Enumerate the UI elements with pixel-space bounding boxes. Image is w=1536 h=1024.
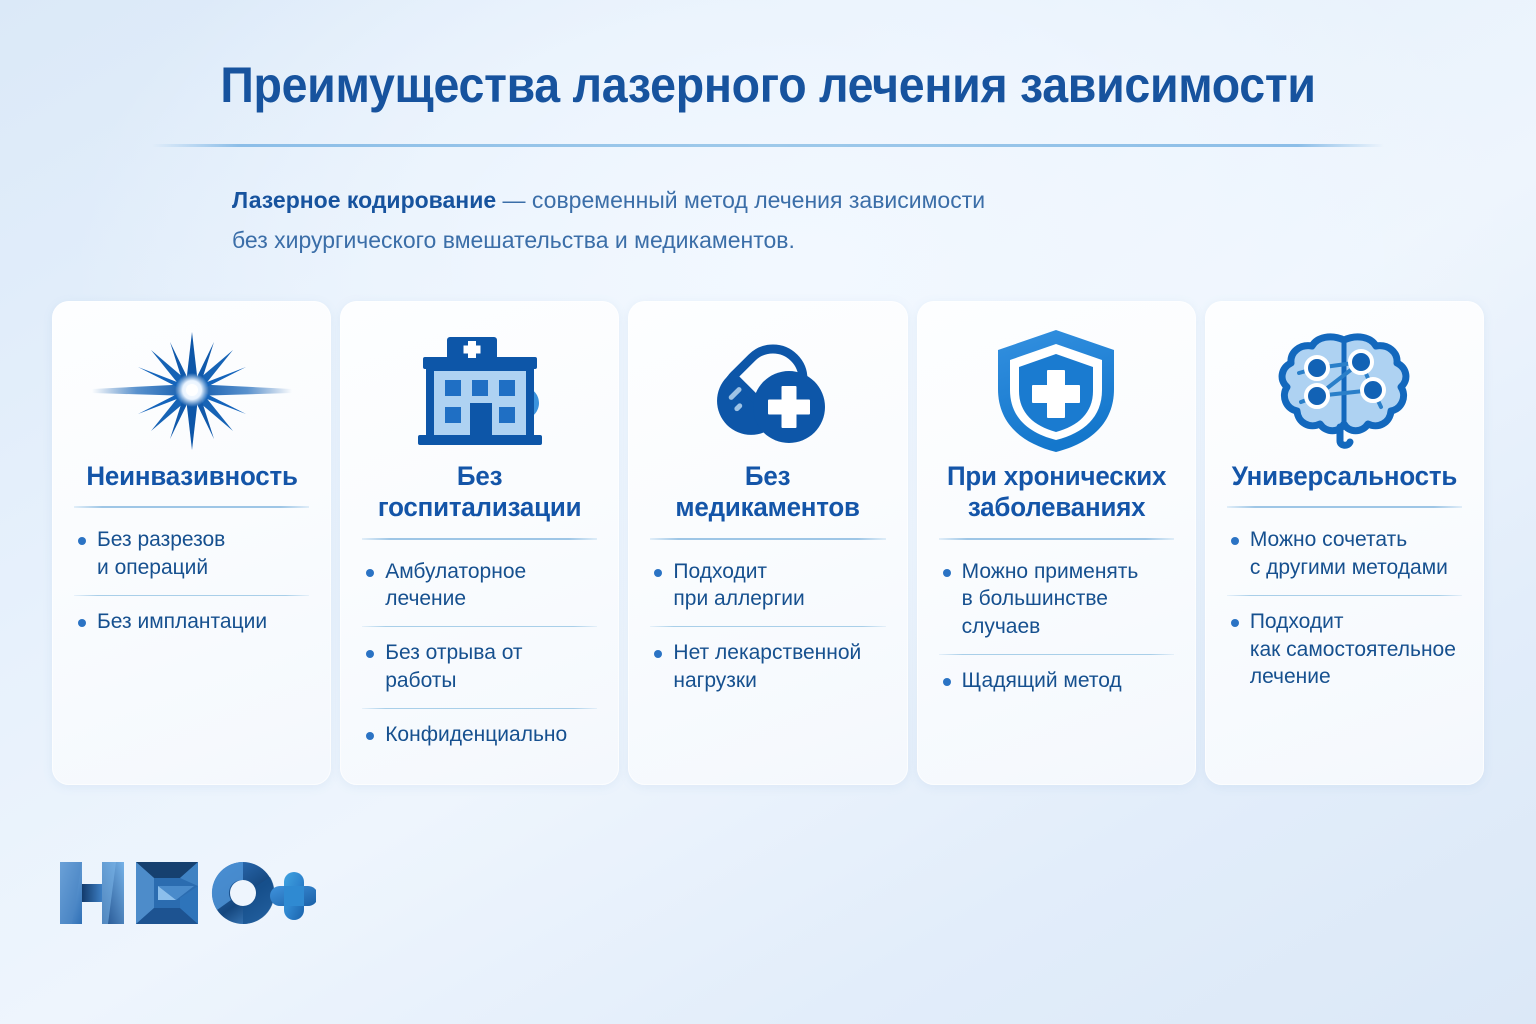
list-item: Можно сочетать с другими методами [1227,524,1462,583]
bullet-dot-icon [943,569,951,577]
list-item-label: Можно сочетать с другими методами [1250,526,1448,581]
intro-strong-term: Лазерное кодирование [232,187,496,213]
bullet-dot-icon [1231,619,1239,627]
shield-cross-icon [991,327,1121,455]
intro-line-1: Лазерное кодирование — современный метод… [232,181,1132,221]
bullet-dot-icon [1231,537,1239,545]
laser-burst-icon [92,327,292,455]
list-item-label: Нет лекарственной нагрузки [673,639,861,694]
bullet-dot-icon [654,569,662,577]
bullet-dot-icon [78,537,86,545]
card-title: Без медикаментов [655,461,881,524]
card-title-divider [939,538,1174,540]
benefit-card-chronic-conditions[interactable]: При хронических заболеваниях Можно приме… [917,301,1196,785]
bullet-dot-icon [366,569,374,577]
list-divider [939,654,1174,655]
page-title: Преимущества лазерного лечения зависимос… [54,58,1482,112]
card-title-divider [650,538,885,540]
card-title-divider [74,506,309,508]
brain-network-icon [1269,327,1419,455]
list-item: Без отрыва от работы [362,637,597,696]
card-title: Неинвазивность [86,461,297,492]
intro-line-1-rest: — современный метод лечения зависимости [496,187,985,213]
benefit-list: Амбулаторное лечение Без отрыва от работ… [362,556,597,751]
title-divider [152,144,1384,147]
list-item: Щадящий метод [939,665,1174,697]
list-item-label: Щадящий метод [962,667,1122,695]
card-title-divider [1227,506,1462,508]
bullet-dot-icon [654,650,662,658]
intro-line-2: без хирургического вмешательства и медик… [232,221,1132,261]
list-item-label: Можно применять в большинстве случаев [962,558,1174,641]
intro-paragraph: Лазерное кодирование — современный метод… [232,181,1132,260]
list-item: Можно применять в большинстве случаев [939,556,1174,643]
benefit-cards-row: Неинвазивность Без разрезов и операций Б… [52,301,1484,785]
infographic-poster: Преимущества лазерного лечения зависимос… [0,0,1536,1024]
list-item: Подходит при аллергии [650,556,885,615]
neo-plus-logo[interactable] [58,854,316,932]
benefit-list: Можно применять в большинстве случаев Ща… [939,556,1174,697]
list-divider [362,626,597,627]
list-item: Конфиденциально [362,719,597,751]
bullet-dot-icon [943,678,951,686]
bullet-dot-icon [78,619,86,627]
list-item: Подходит как самостоятельное лечение [1227,606,1462,693]
benefit-list: Без разрезов и операций Без имплантации [74,524,309,637]
hospital-building-icon [400,327,560,455]
poster-header: Преимущества лазерного лечения зависимос… [0,0,1536,147]
list-divider [74,595,309,596]
list-item-label: Без отрыва от работы [385,639,597,694]
list-divider [650,626,885,627]
benefit-card-versatility[interactable]: Универсальность Можно сочетать с другими… [1205,301,1484,785]
list-item-label: Без имплантации [97,608,267,636]
card-title: Без госпитализации [367,461,593,524]
benefit-list: Можно сочетать с другими методами Подход… [1227,524,1462,693]
list-item: Амбулаторное лечение [362,556,597,615]
list-divider [362,708,597,709]
card-title: При хронических заболеваниях [943,461,1169,524]
benefit-card-no-hospitalization[interactable]: Без госпитализации Амбулаторное лечение … [340,301,619,785]
list-item-label: Подходит при аллергии [673,558,804,613]
list-item-label: Конфиденциально [385,721,567,749]
list-divider [1227,595,1462,596]
list-item-label: Без разрезов и операций [97,526,225,581]
card-title-divider [362,538,597,540]
list-item: Без имплантации [74,606,309,638]
list-item: Нет лекарственной нагрузки [650,637,885,696]
card-title: Универсальность [1232,461,1457,492]
bullet-dot-icon [366,650,374,658]
list-item: Без разрезов и операций [74,524,309,583]
pills-capsule-icon [693,327,843,455]
list-item-label: Амбулаторное лечение [385,558,526,613]
benefit-card-noninvasive[interactable]: Неинвазивность Без разрезов и операций Б… [52,301,331,785]
benefit-list: Подходит при аллергии Нет лекарственной … [650,556,885,697]
benefit-card-no-medication[interactable]: Без медикаментов Подходит при аллергии Н… [628,301,907,785]
bullet-dot-icon [366,732,374,740]
list-item-label: Подходит как самостоятельное лечение [1250,608,1456,691]
